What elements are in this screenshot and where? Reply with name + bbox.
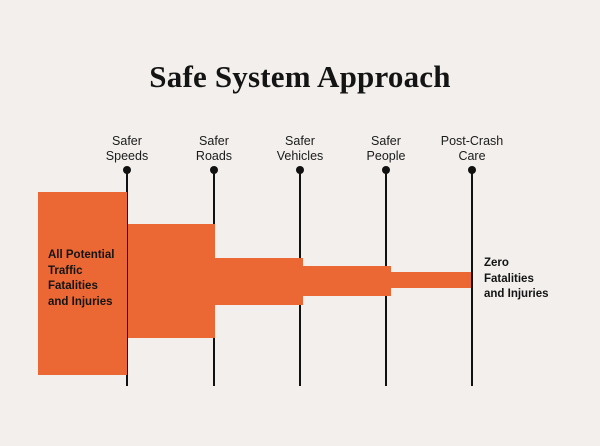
stage-axis-line-5 [471, 170, 473, 386]
funnel-block-4 [303, 266, 391, 296]
page-title: Safe System Approach [0, 58, 600, 96]
stage-label-5: Post-Crash Care [412, 134, 532, 164]
output-annotation-label: Zero Fatalities and Injuries [484, 256, 594, 303]
funnel-block-5 [390, 272, 471, 288]
funnel-block-2 [128, 224, 215, 338]
input-annotation-label: All Potential Traffic Fatalities and Inj… [48, 248, 140, 310]
funnel-block-3 [215, 258, 303, 305]
safe-system-approach-infographic: Safe System Approach Safer SpeedsSafer R… [0, 0, 600, 446]
